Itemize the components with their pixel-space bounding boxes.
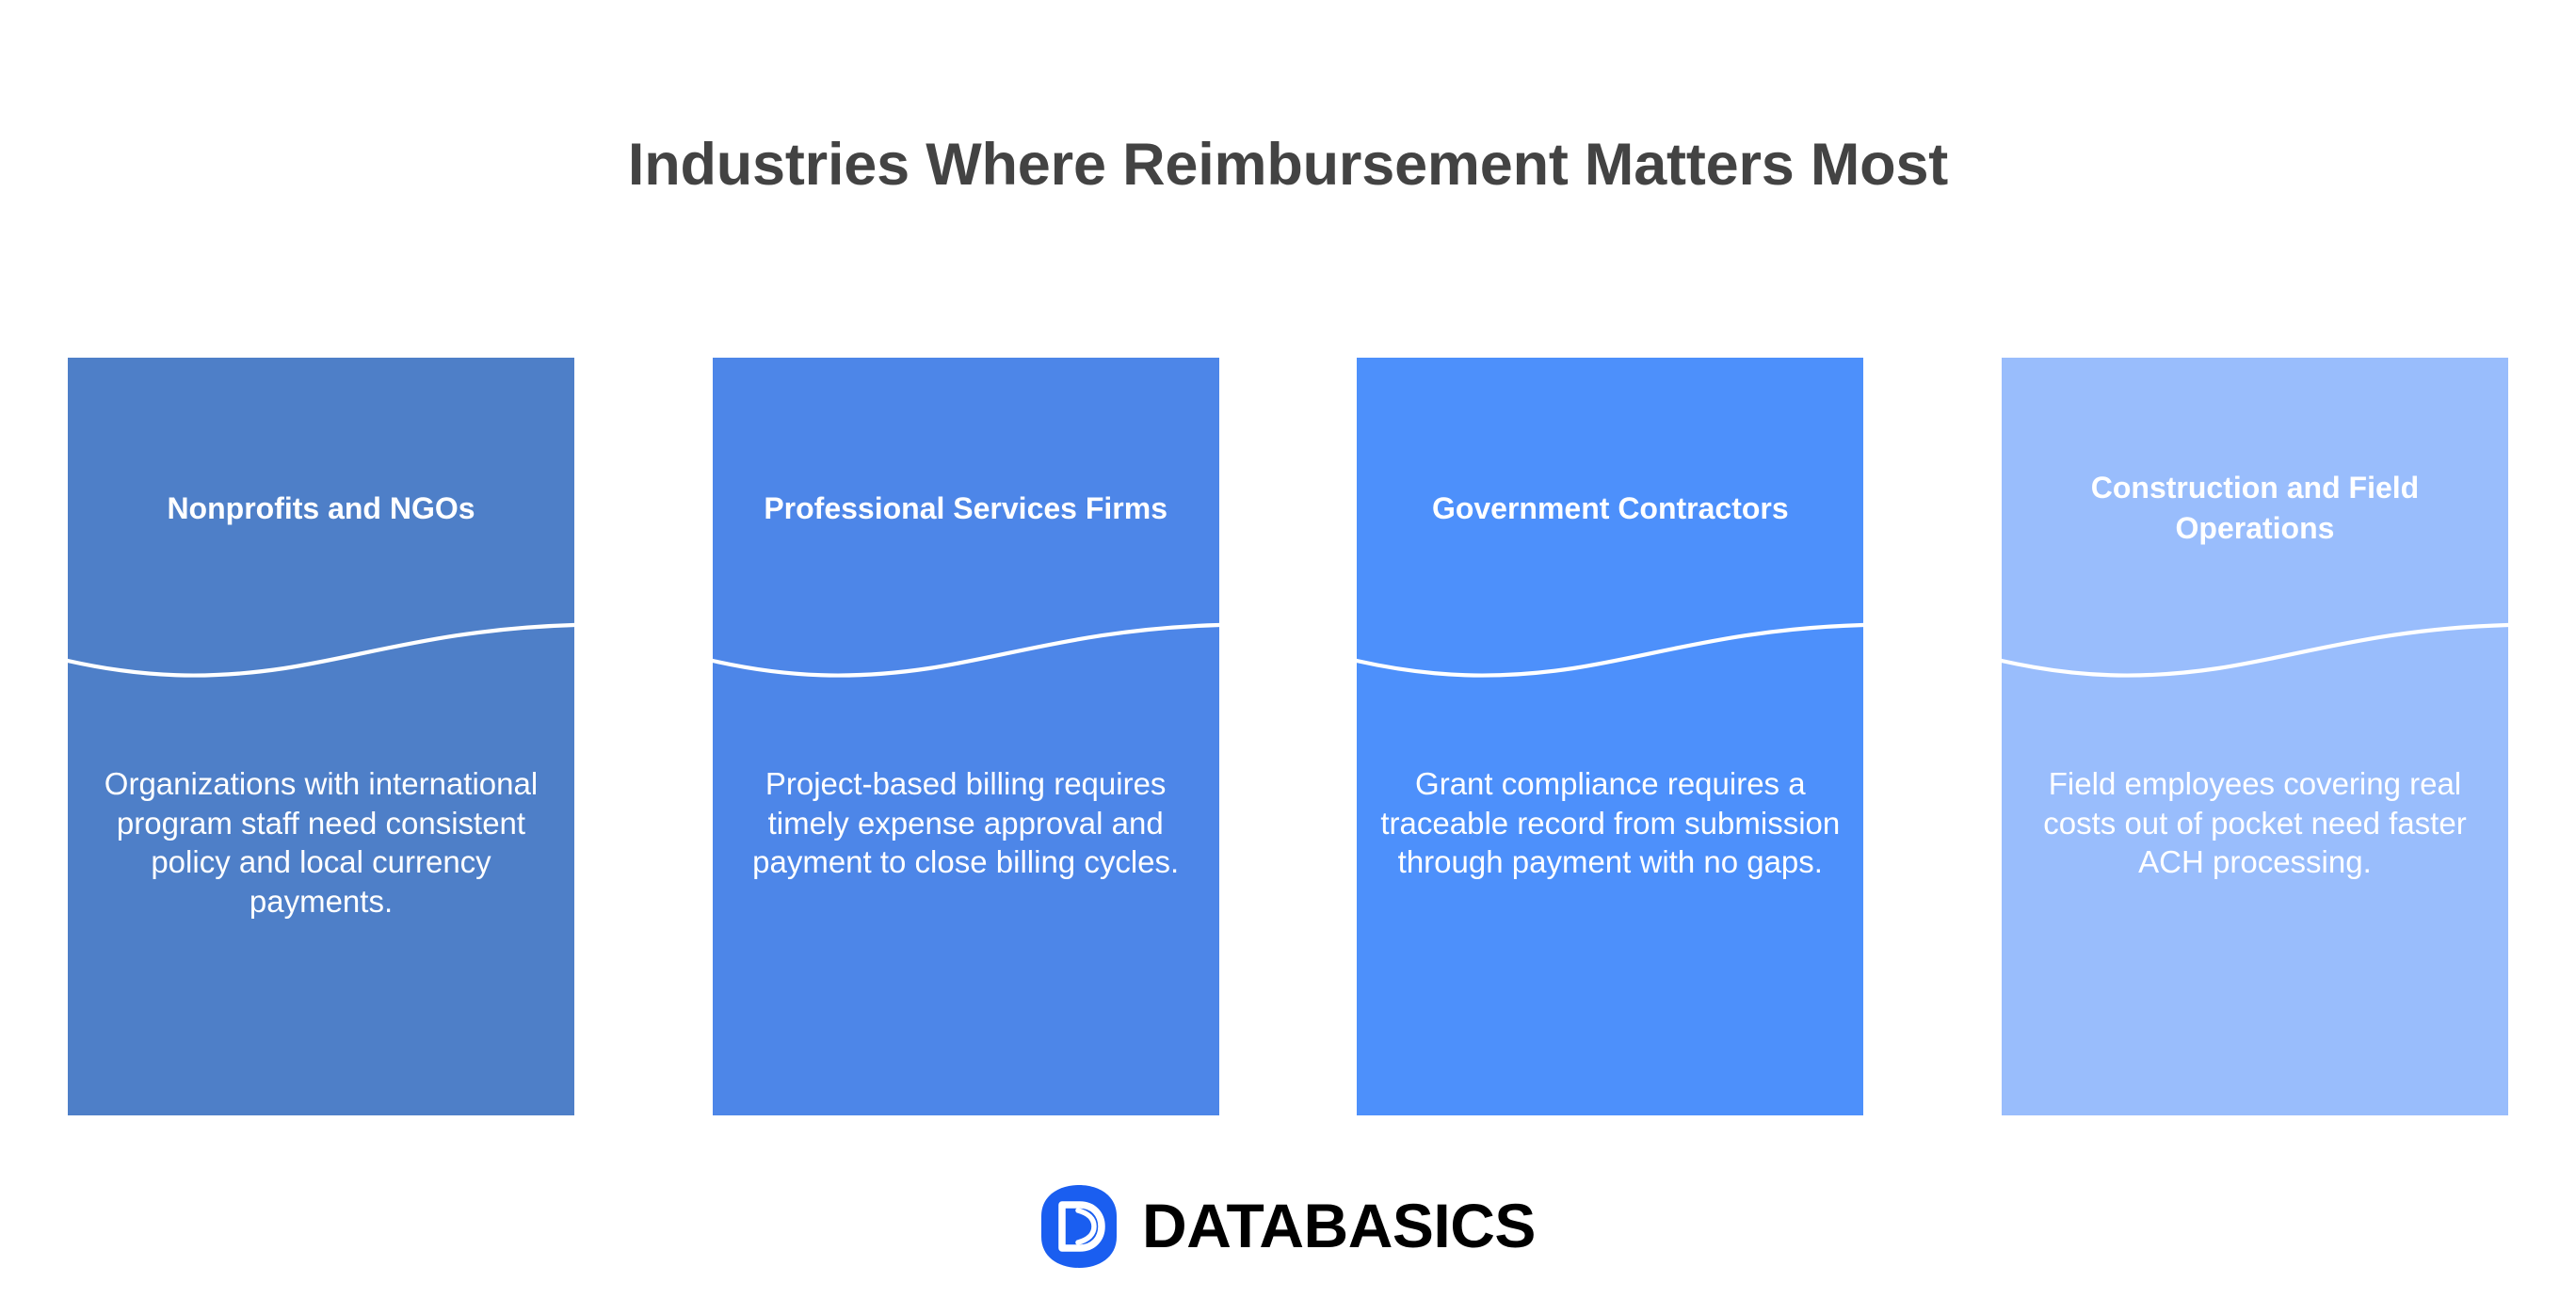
databasics-d-logo-icon: [1040, 1184, 1118, 1269]
industry-card: Nonprofits and NGOs Organizations with i…: [68, 358, 574, 1115]
industry-card-title: Professional Services Firms: [713, 358, 1219, 659]
industry-card: Construction and Field Operations Field …: [2002, 358, 2508, 1115]
infographic-page: Industries Where Reimbursement Matters M…: [0, 0, 2576, 1298]
databasics-wordmark: DATABASICS: [1142, 1194, 1536, 1257]
industry-card-body: Field employees covering real costs out …: [2002, 702, 2508, 1115]
industry-card-body: Organizations with international program…: [68, 702, 574, 1115]
databasics-logo: DATABASICS: [0, 1178, 2576, 1275]
industry-card-body: Project-based billing requires timely ex…: [713, 702, 1219, 1115]
industry-cards-row: Nonprofits and NGOs Organizations with i…: [68, 358, 2508, 1115]
industry-card-title: Construction and Field Operations: [2002, 358, 2508, 659]
industry-card: Professional Services Firms Project-base…: [713, 358, 1219, 1115]
industry-card-title: Government Contractors: [1357, 358, 1863, 659]
industry-card: Government Contractors Grant compliance …: [1357, 358, 1863, 1115]
industry-card-title: Nonprofits and NGOs: [68, 358, 574, 659]
industry-card-body: Grant compliance requires a traceable re…: [1357, 702, 1863, 1115]
page-title: Industries Where Reimbursement Matters M…: [0, 132, 2576, 199]
